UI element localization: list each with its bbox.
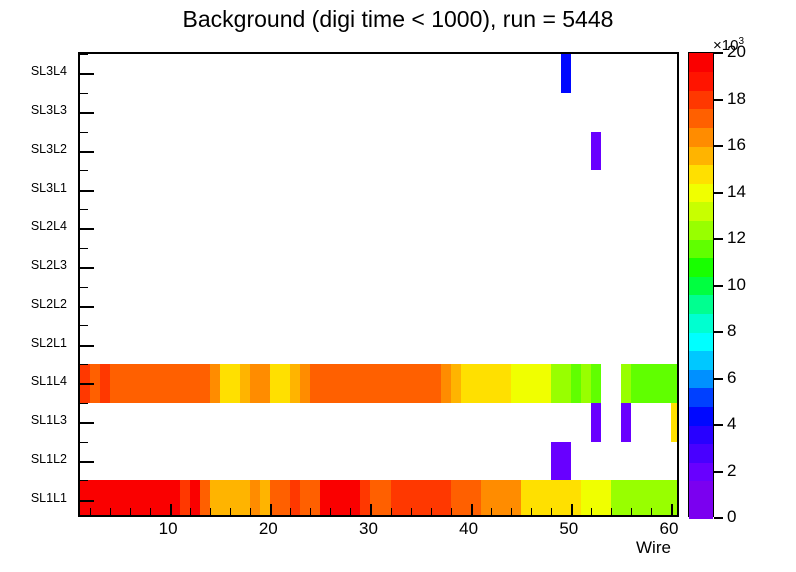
colorbar-segment xyxy=(689,109,713,128)
heatmap-cell xyxy=(591,364,601,403)
colorbar-segment xyxy=(689,332,713,351)
x-axis-minor-tick xyxy=(651,508,652,515)
heatmap-cell xyxy=(270,364,290,403)
y-axis-minor-tick xyxy=(80,403,88,404)
heatmap-cell xyxy=(290,480,300,515)
colorbar-segment xyxy=(689,127,713,146)
x-axis-minor-tick xyxy=(110,508,111,515)
y-axis-label-sl2l3: SL2L3 xyxy=(31,258,67,272)
y-axis-tick xyxy=(80,267,94,269)
x-axis-minor-tick xyxy=(250,508,251,515)
colorbar-tick-label: 12 xyxy=(727,228,746,248)
heatmap-cell xyxy=(370,480,390,515)
y-axis-labels: SL1L1SL1L2SL1L3SL1L4SL2L1SL2L2SL2L3SL2L4… xyxy=(0,52,78,517)
y-axis-tick xyxy=(80,190,94,192)
colorbar-tick xyxy=(714,378,723,380)
x-axis-tick-label: 30 xyxy=(359,519,378,539)
y-axis-label-sl2l1: SL2L1 xyxy=(31,336,67,350)
colorbar xyxy=(688,52,714,517)
x-axis-minor-tick xyxy=(350,508,351,515)
x-axis-minor-tick xyxy=(330,508,331,515)
colorbar-tick-label: 0 xyxy=(727,507,736,527)
x-axis-minor-tick xyxy=(451,508,452,515)
colorbar-tick-label: 2 xyxy=(727,461,736,481)
heatmap-cell xyxy=(200,480,210,515)
y-axis-tick xyxy=(80,151,94,153)
y-axis-tick xyxy=(80,383,94,385)
x-axis-tick-label: 40 xyxy=(459,519,478,539)
colorbar-segment xyxy=(689,165,713,184)
heatmap-cell xyxy=(621,403,631,442)
y-axis-minor-tick xyxy=(80,287,88,288)
colorbar-segment xyxy=(689,239,713,258)
colorbar-segment xyxy=(689,295,713,314)
heatmap-cell xyxy=(250,480,260,515)
colorbar-tick xyxy=(714,192,723,194)
colorbar-segment xyxy=(689,462,713,481)
x-axis-minor-tick xyxy=(290,508,291,515)
heatmap-cell xyxy=(320,480,360,515)
heatmap-cell xyxy=(581,480,611,515)
colorbar-tick xyxy=(714,424,723,426)
colorbar-tick-label: 18 xyxy=(727,89,746,109)
heatmap-cell xyxy=(270,480,290,515)
y-axis-minor-tick xyxy=(80,209,88,210)
x-axis-minor-tick xyxy=(611,508,612,515)
root-canvas: Background (digi time < 1000), run = 544… xyxy=(0,0,796,572)
y-axis-label-sl3l3: SL3L3 xyxy=(31,103,67,117)
x-axis-minor-tick xyxy=(551,508,552,515)
colorbar-tick xyxy=(714,145,723,147)
x-axis-tick-label: 10 xyxy=(159,519,178,539)
x-axis-major-tick xyxy=(270,504,272,515)
heatmap-cell xyxy=(581,364,591,403)
heatmap-cell xyxy=(190,480,200,515)
y-axis-minor-tick xyxy=(80,132,88,133)
y-axis-label-sl2l2: SL2L2 xyxy=(31,297,67,311)
y-axis-minor-tick xyxy=(80,248,88,249)
heatmap-cell xyxy=(611,480,677,515)
x-axis-minor-tick xyxy=(190,508,191,515)
colorbar-gradient xyxy=(689,53,713,516)
x-axis-minor-tick xyxy=(411,508,412,515)
colorbar-tick-label: 16 xyxy=(727,135,746,155)
page-title: Background (digi time < 1000), run = 544… xyxy=(0,6,796,33)
heatmap-cell xyxy=(671,403,677,442)
x-axis-minor-tick xyxy=(431,508,432,515)
y-axis-label-sl1l2: SL1L2 xyxy=(31,452,67,466)
y-axis-minor-tick xyxy=(80,54,88,55)
y-axis-tick xyxy=(80,228,94,230)
x-axis-minor-tick xyxy=(631,508,632,515)
colorbar-tick-label: 20 xyxy=(727,42,746,62)
heatmap-cell xyxy=(290,364,300,403)
heatmap-cell xyxy=(591,403,601,442)
heatmap-cell xyxy=(561,54,571,93)
x-axis-minor-tick xyxy=(511,508,512,515)
colorbar-segment xyxy=(689,481,713,500)
heatmap-cell xyxy=(451,480,481,515)
colorbar-segment xyxy=(689,313,713,332)
colorbar-tick xyxy=(714,99,723,101)
x-axis-minor-tick xyxy=(150,508,151,515)
y-axis-tick xyxy=(80,112,94,114)
heatmap-cell xyxy=(511,364,551,403)
x-axis-major-tick xyxy=(571,504,573,515)
y-axis-label-sl1l4: SL1L4 xyxy=(31,374,67,388)
colorbar-tick xyxy=(714,471,723,473)
colorbar-segment xyxy=(689,258,713,277)
colorbar-tick-label: 8 xyxy=(727,321,736,341)
x-axis-minor-tick xyxy=(591,508,592,515)
colorbar-tick xyxy=(714,285,723,287)
heatmap-cell xyxy=(180,480,190,515)
y-axis-minor-tick xyxy=(80,364,88,365)
heatmap-cell xyxy=(571,364,581,403)
x-axis-major-tick xyxy=(370,504,372,515)
y-axis-tick xyxy=(80,73,94,75)
colorbar-segment xyxy=(689,72,713,91)
heatmap-cell xyxy=(441,364,451,403)
y-axis-minor-tick xyxy=(80,480,88,481)
y-axis-minor-tick xyxy=(80,442,88,443)
heatmap-cell xyxy=(551,364,571,403)
y-axis-tick xyxy=(80,422,94,424)
heatmap-cell xyxy=(551,442,571,481)
colorbar-segment xyxy=(689,220,713,239)
x-axis-minor-tick xyxy=(531,508,532,515)
colorbar-segment xyxy=(689,276,713,295)
x-axis-title: Wire xyxy=(636,538,671,558)
y-axis-minor-tick xyxy=(80,170,88,171)
colorbar-segment xyxy=(689,388,713,407)
colorbar-tick-label: 10 xyxy=(727,275,746,295)
colorbar-tick xyxy=(714,331,723,333)
y-axis-label-sl3l1: SL3L1 xyxy=(31,181,67,195)
heatmap-cell xyxy=(210,364,220,403)
y-axis-label-sl3l2: SL3L2 xyxy=(31,142,67,156)
x-axis-minor-tick xyxy=(130,508,131,515)
heatmap-cells xyxy=(80,54,677,515)
heatmap-cell xyxy=(461,364,511,403)
y-axis-minor-tick xyxy=(80,93,88,94)
heatmap-cell xyxy=(250,364,270,403)
heatmap-cell xyxy=(240,364,250,403)
colorbar-segment xyxy=(689,444,713,463)
colorbar-tick-label: 4 xyxy=(727,414,736,434)
colorbar-segment xyxy=(689,499,713,518)
x-axis-tick-label: 20 xyxy=(259,519,278,539)
heatmap-cell xyxy=(260,480,270,515)
y-axis-label-sl3l4: SL3L4 xyxy=(31,64,67,78)
colorbar-tick xyxy=(714,238,723,240)
y-axis-minor-tick xyxy=(80,325,88,326)
colorbar-segment xyxy=(689,146,713,165)
y-axis-tick xyxy=(80,306,94,308)
heatmap-cell xyxy=(220,364,240,403)
colorbar-tick xyxy=(714,517,723,519)
x-axis-tick-label: 50 xyxy=(559,519,578,539)
heatmap-cell xyxy=(621,364,631,403)
colorbar-tick-labels: 02468101214161820 xyxy=(714,52,794,517)
x-axis-minor-tick xyxy=(210,508,211,515)
y-axis-label-sl2l4: SL2L4 xyxy=(31,219,67,233)
y-axis-label-sl1l3: SL1L3 xyxy=(31,413,67,427)
x-axis-tick-label: 60 xyxy=(660,519,679,539)
colorbar-tick-label: 6 xyxy=(727,368,736,388)
heatmap-cell xyxy=(631,364,677,403)
heatmap-cell xyxy=(300,364,310,403)
x-axis-minor-tick xyxy=(230,508,231,515)
x-axis-minor-tick xyxy=(310,508,311,515)
x-axis-major-tick xyxy=(170,504,172,515)
heatmap-cell xyxy=(391,480,451,515)
x-axis-minor-tick xyxy=(391,508,392,515)
colorbar-segment xyxy=(689,202,713,221)
heatmap-cell xyxy=(591,132,601,171)
y-axis-tick xyxy=(80,461,94,463)
colorbar-segment xyxy=(689,53,713,72)
colorbar-segment xyxy=(689,425,713,444)
colorbar-segment xyxy=(689,406,713,425)
x-axis-tick-labels: 102030405060 xyxy=(78,519,679,545)
plot-frame xyxy=(78,52,679,517)
colorbar-tick-label: 14 xyxy=(727,182,746,202)
heatmap-cell xyxy=(310,364,440,403)
heatmap-cell xyxy=(451,364,461,403)
y-axis-tick xyxy=(80,500,94,502)
colorbar-segment xyxy=(689,90,713,109)
x-axis-major-tick xyxy=(471,504,473,515)
y-axis-label-sl1l1: SL1L1 xyxy=(31,491,67,505)
colorbar-segment xyxy=(689,183,713,202)
colorbar-segment xyxy=(689,369,713,388)
heatmap-cell xyxy=(110,364,210,403)
x-axis-major-tick xyxy=(671,504,673,515)
heatmap-cell xyxy=(100,364,110,403)
x-axis-minor-tick xyxy=(90,508,91,515)
heatmap-cell xyxy=(360,480,370,515)
x-axis-minor-tick xyxy=(491,508,492,515)
y-axis-tick xyxy=(80,345,94,347)
colorbar-tick xyxy=(714,52,723,54)
heatmap-cell xyxy=(481,480,521,515)
colorbar-segment xyxy=(689,351,713,370)
